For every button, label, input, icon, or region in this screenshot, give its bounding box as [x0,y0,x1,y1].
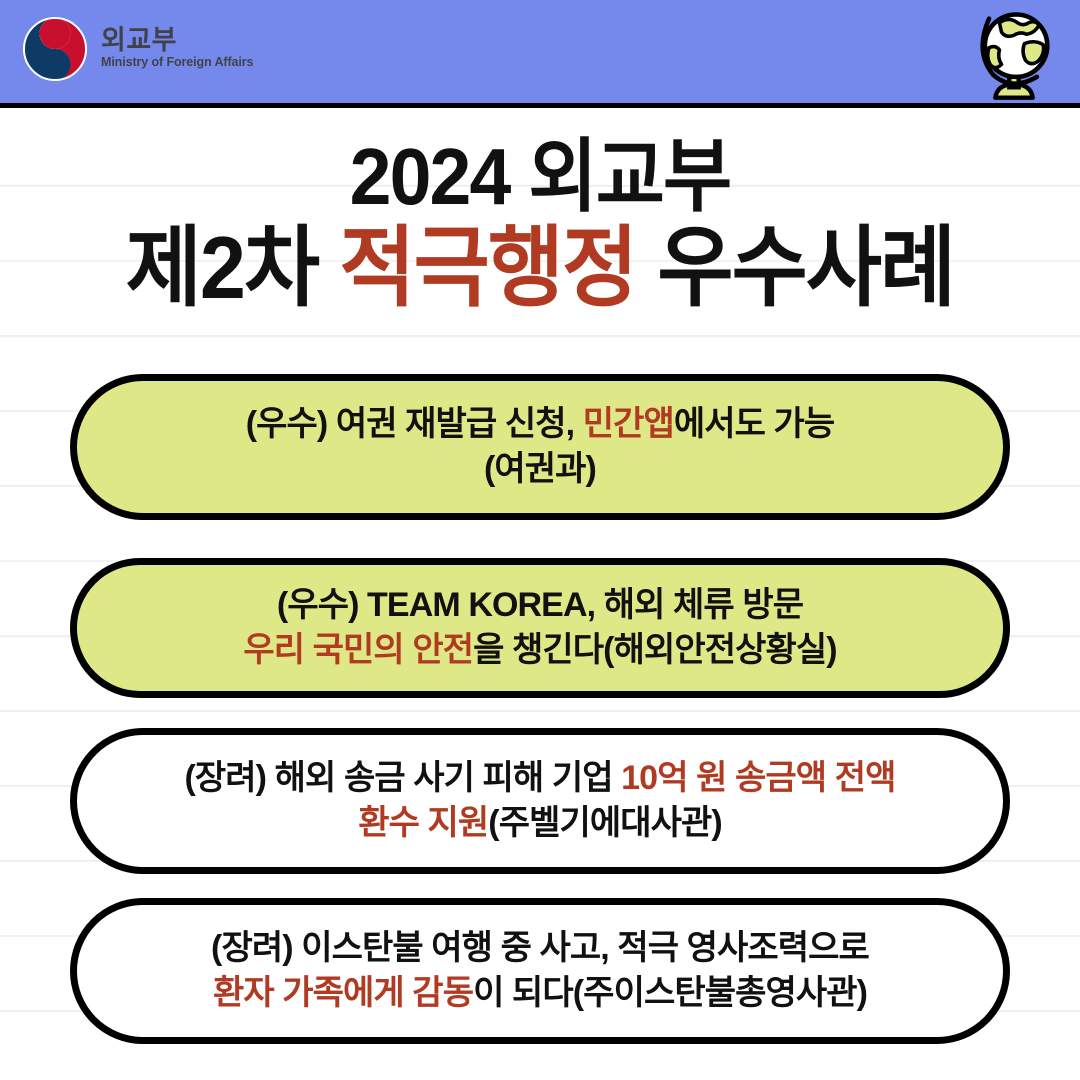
card-1-line1-pre: (우수) 여권 재발급 신청, [246,405,583,443]
card-4-highlight: 환자 가족에게 감동 [213,974,473,1012]
case-card-3-text: (장려) 해외 송금 사기 피해 기업 10억 원 송금액 전액환수 지원(주벨… [184,756,895,846]
card-4-line2-post: 이 되다(주이스탄불총영사관) [473,974,867,1012]
ministry-logo: 외교부 Ministry of Foreign Affairs [22,16,253,82]
card-1-department: (여권과) [484,450,596,488]
card-1-line1-post: 에서도 가능 [674,405,834,443]
card-3-highlight-1: 10억 원 송금액 전액 [621,759,895,797]
taeguk-emblem-icon [22,16,88,82]
title-line-2-pre: 제2차 [126,218,340,317]
card-1-highlight: 민간앱 [583,405,674,443]
title-accent: 적극행정 [339,218,636,317]
card-3-line1-pre: (장려) 해외 송금 사기 피해 기업 [184,759,621,797]
card-2-line1: (우수) TEAM KOREA, 해외 체류 방문 [277,586,803,624]
ministry-name-en: Ministry of Foreign Affairs [101,56,253,70]
card-4-line1: (장려) 이스탄불 여행 중 사고, 적극 영사조력으로 [211,929,869,967]
page-title: 2024 외교부 제2차 적극행정 우수사례 [0,135,1080,314]
case-card-2-text: (우수) TEAM KOREA, 해외 체류 방문우리 국민의 안전을 챙긴다(… [243,583,836,673]
header-bar: 외교부 Ministry of Foreign Affairs [0,0,1080,108]
case-card-4-text: (장려) 이스탄불 여행 중 사고, 적극 영사조력으로환자 가족에게 감동이 … [211,926,869,1016]
card-2-line2-post: 을 챙긴다(해외안전상황실) [473,631,837,669]
globe-icon [962,2,1066,106]
card-2-highlight: 우리 국민의 안전 [243,631,473,669]
case-card-2[interactable]: (우수) TEAM KOREA, 해외 체류 방문우리 국민의 안전을 챙긴다(… [70,558,1010,698]
title-line-2-post: 우수사례 [636,218,954,317]
logo-text-block: 외교부 Ministry of Foreign Affairs [101,26,253,72]
case-card-1-text: (우수) 여권 재발급 신청, 민간앱에서도 가능(여권과) [246,402,835,492]
case-card-3[interactable]: (장려) 해외 송금 사기 피해 기업 10억 원 송금액 전액환수 지원(주벨… [70,728,1010,874]
ministry-name-ko: 외교부 [101,26,253,55]
card-3-highlight-2: 환수 지원 [358,804,488,842]
title-line-1: 2024 외교부 [32,135,1047,218]
title-line-2: 제2차 적극행정 우수사례 [32,222,1047,314]
case-card-1[interactable]: (우수) 여권 재발급 신청, 민간앱에서도 가능(여권과) [70,374,1010,520]
case-card-4[interactable]: (장려) 이스탄불 여행 중 사고, 적극 영사조력으로환자 가족에게 감동이 … [70,898,1010,1044]
card-3-line2-post: (주벨기에대사관) [488,804,722,842]
